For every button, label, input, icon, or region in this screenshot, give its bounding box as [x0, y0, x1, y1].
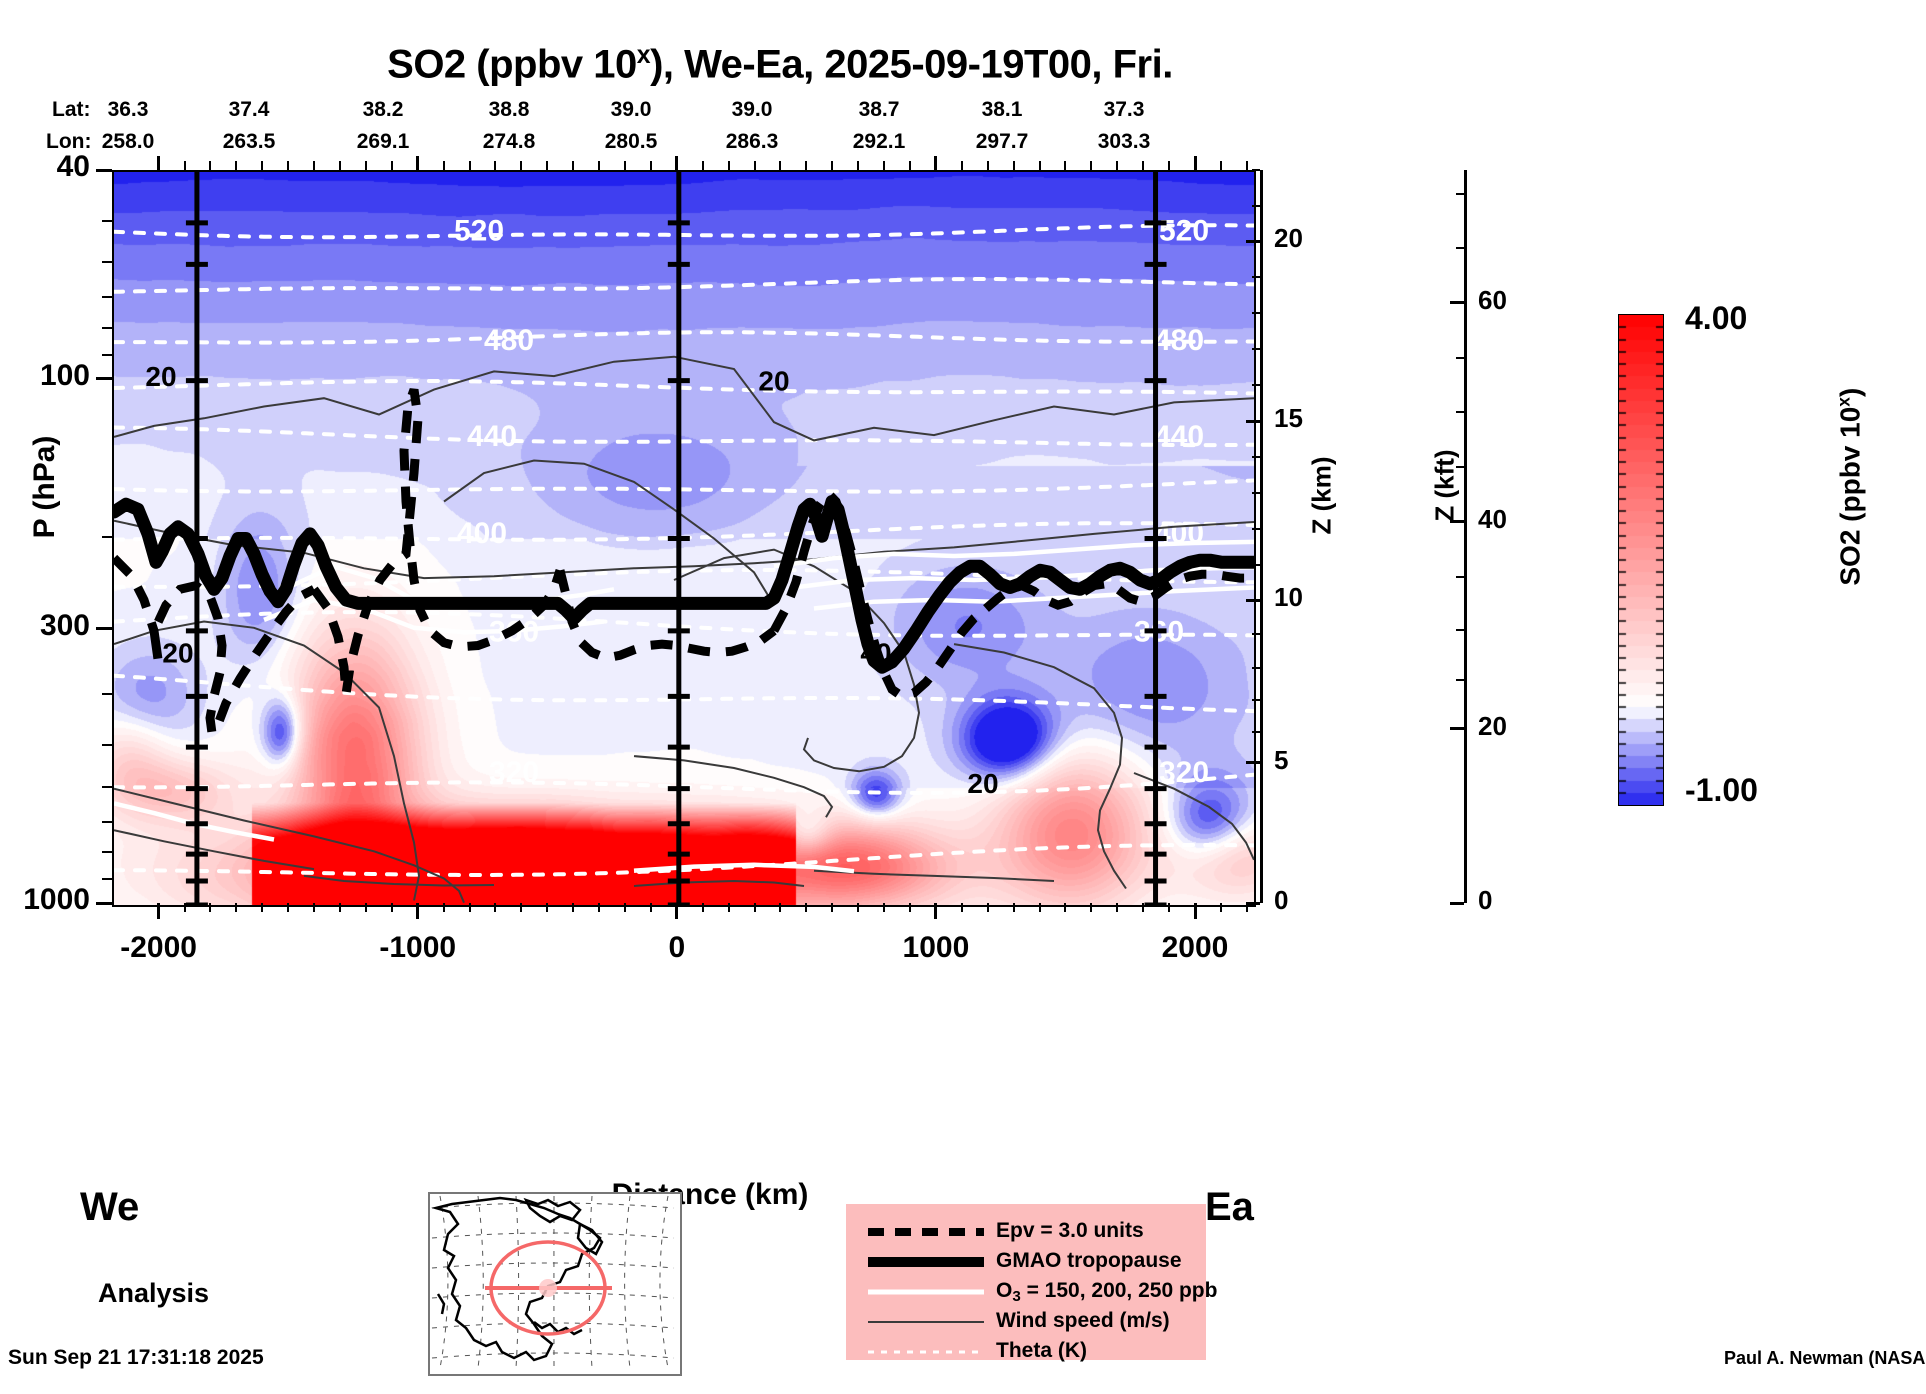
tick-mark: [909, 161, 911, 170]
tick-mark: [650, 161, 652, 170]
tick-mark: [1450, 520, 1464, 523]
theta-contour-label: 320: [489, 756, 539, 789]
theta-contour-label: 440: [467, 420, 517, 453]
y-tick-label: 300: [0, 609, 90, 643]
tick-mark: [572, 161, 574, 170]
tick-mark: [235, 161, 237, 170]
tick-mark: [934, 156, 937, 170]
inset-location-map[interactable]: [428, 1192, 682, 1376]
tick-mark: [675, 903, 678, 919]
tick-mark: [572, 903, 574, 912]
tick-mark: [1464, 170, 1467, 903]
inset-map-svg: [430, 1194, 676, 1370]
graticule-meridian: [625, 1196, 630, 1368]
lat-value: 36.3: [83, 98, 173, 122]
tick-mark: [102, 296, 112, 298]
legend-item-label: Wind speed (m/s): [996, 1309, 1170, 1333]
tick-mark: [1456, 629, 1464, 631]
lon-value: 263.5: [204, 130, 294, 154]
graticule-meridian: [589, 1196, 592, 1368]
x-tick-label: -1000: [348, 931, 488, 965]
tick-mark: [1456, 576, 1464, 578]
tick-mark: [650, 903, 652, 912]
legend-key-solid-thin-black: [866, 1306, 986, 1337]
tick-mark: [754, 161, 756, 170]
legend-item: GMAO tropopause: [846, 1246, 1206, 1277]
tick-mark: [287, 903, 289, 912]
z-kft-tick-label: 0: [1478, 885, 1548, 916]
colorbar: [1618, 314, 1664, 806]
lat-value: 38.7: [834, 98, 924, 122]
legend-item: Theta (K): [846, 1336, 1206, 1367]
tick-mark: [754, 903, 756, 912]
tick-mark: [1090, 903, 1092, 912]
tick-mark: [1039, 161, 1041, 170]
wind-speed-label: 20: [162, 638, 193, 669]
z-kft-tick-label: 40: [1478, 504, 1548, 535]
tick-mark: [987, 903, 989, 912]
wind-speed-contour: [114, 789, 464, 903]
tick-mark: [1252, 348, 1260, 350]
theta-contour-label: 520: [454, 215, 504, 248]
tick-mark: [598, 903, 600, 912]
theta-contour: [114, 279, 1254, 292]
legend-item-label: Theta (K): [996, 1339, 1087, 1363]
tick-mark: [96, 627, 112, 630]
tick-mark: [546, 161, 548, 170]
wind-speed-contour: [444, 461, 674, 510]
tick-mark: [365, 161, 367, 170]
tick-mark: [235, 903, 237, 912]
colorbar-label-sup: x: [1833, 397, 1853, 407]
z-kft-tick-label: 20: [1478, 711, 1548, 742]
tick-mark: [1246, 420, 1260, 423]
tick-mark: [805, 161, 807, 170]
theta-contour: [114, 332, 1254, 342]
theta-contour-label: 400: [457, 517, 507, 550]
legend-box: Epv = 3.0 unitsGMAO tropopauseO3 = 150, …: [846, 1204, 1206, 1360]
tick-mark: [1456, 193, 1464, 195]
tick-mark: [1194, 156, 1197, 170]
tick-mark: [1450, 902, 1464, 905]
tick-mark: [443, 903, 445, 912]
z-kft-axis-label: Z (kft): [1430, 396, 1461, 576]
lon-header-row: Lon:258.0263.5269.1274.8280.5286.3292.12…: [0, 130, 1926, 160]
wind-speed-label: 20: [758, 366, 789, 397]
tick-mark: [102, 220, 112, 222]
tick-mark: [702, 903, 704, 912]
tick-mark: [157, 156, 160, 170]
tick-mark: [1064, 903, 1066, 912]
tick-mark: [96, 169, 112, 172]
author-credit: Paul A. Newman (NASA: [1724, 1348, 1925, 1369]
tick-mark: [1450, 301, 1464, 304]
tick-mark: [494, 161, 496, 170]
lat-header-row: Lat:36.337.438.238.839.039.038.738.137.3: [0, 98, 1926, 128]
tick-mark: [1168, 161, 1170, 170]
tick-mark: [1252, 667, 1260, 669]
tick-mark: [102, 261, 112, 263]
tick-mark: [624, 903, 626, 912]
tick-mark: [102, 878, 112, 880]
graticule-parallel: [432, 1233, 674, 1238]
lat-value: 37.3: [1079, 98, 1169, 122]
cross-section-plot[interactable]: 5205204804804404404004003603603203202020…: [112, 170, 1256, 907]
tick-mark: [1246, 599, 1260, 602]
wind-speed-contour: [304, 876, 494, 886]
z-km-tick-label: 10: [1274, 582, 1344, 613]
tick-mark: [1252, 312, 1260, 314]
x-tick-label: 0: [607, 931, 747, 965]
tick-mark: [1064, 161, 1066, 170]
title-text-after: ), We-Ea, 2025-09-19T00, Fri.: [650, 42, 1173, 86]
tick-mark: [313, 161, 315, 170]
tick-mark: [520, 903, 522, 912]
lat-value: 38.8: [464, 98, 554, 122]
theta-contour-label: 480: [484, 324, 534, 357]
tick-mark: [102, 786, 112, 788]
theta-contour: [114, 845, 1254, 875]
graticule-meridian: [440, 1196, 448, 1368]
tick-mark: [1013, 903, 1015, 912]
tick-mark: [184, 161, 186, 170]
lat-value: 38.2: [338, 98, 428, 122]
tick-mark: [1220, 161, 1222, 170]
lon-value: 286.3: [707, 130, 797, 154]
lat-value: 37.4: [204, 98, 294, 122]
z-kft-tick-label: 60: [1478, 285, 1548, 316]
tick-mark: [857, 161, 859, 170]
tick-mark: [961, 161, 963, 170]
tick-mark: [1252, 205, 1260, 207]
lon-value: 303.3: [1079, 130, 1169, 154]
wind-speed-contour: [634, 881, 804, 886]
tick-mark: [1456, 466, 1464, 468]
tick-mark: [1252, 633, 1260, 635]
tick-mark: [209, 903, 211, 912]
tick-mark: [261, 161, 263, 170]
lat-value: 39.0: [586, 98, 676, 122]
graticule-parallel: [432, 1353, 674, 1358]
contour-overlay: 5205204804804404404004003603603203202020…: [114, 172, 1254, 905]
tick-mark: [1252, 276, 1260, 278]
colorbar-label-before: SO2 (ppbv 10: [1835, 407, 1866, 586]
theta-contour-label: 440: [1154, 420, 1204, 453]
lon-value: 258.0: [83, 130, 173, 154]
graticule-parallel: [432, 1263, 674, 1268]
tick-mark: [339, 903, 341, 912]
tick-mark: [728, 903, 730, 912]
tick-mark: [779, 161, 781, 170]
tick-mark: [365, 903, 367, 912]
tick-mark: [261, 903, 263, 912]
tick-mark: [1142, 161, 1144, 170]
legend-key-dotted-white: [866, 1336, 986, 1367]
lon-value: 269.1: [338, 130, 428, 154]
tick-mark: [546, 903, 548, 912]
theta-contour-label: 480: [1154, 324, 1204, 357]
tick-mark: [102, 821, 112, 823]
tick-mark: [157, 903, 160, 919]
transect-center-marker: [539, 1279, 557, 1297]
z-km-tick-label: 5: [1274, 745, 1344, 776]
tick-mark: [934, 903, 937, 919]
tick-mark: [1142, 903, 1144, 912]
x-tick-label: 1000: [866, 931, 1006, 965]
tick-mark: [831, 903, 833, 912]
z-km-tick-label: 0: [1274, 885, 1344, 916]
graticule-meridian: [516, 1196, 519, 1368]
legend-item-label: GMAO tropopause: [996, 1249, 1182, 1273]
tick-mark: [1220, 903, 1222, 912]
tick-mark: [469, 903, 471, 912]
theta-contour-label: 320: [1159, 756, 1209, 789]
tick-mark: [1252, 492, 1260, 494]
tick-mark: [313, 903, 315, 912]
theta-contour: [114, 676, 1254, 711]
tick-mark: [779, 903, 781, 912]
tick-mark: [102, 536, 112, 538]
tick-mark: [1246, 161, 1248, 170]
y-tick-label: 100: [0, 359, 90, 393]
lon-value: 274.8: [464, 130, 554, 154]
legend-key-solid-thick-black: [866, 1246, 986, 1277]
lon-value: 292.1: [834, 130, 924, 154]
tick-mark: [1456, 247, 1464, 249]
legend-item: Wind speed (m/s): [846, 1306, 1206, 1337]
tick-mark: [339, 161, 341, 170]
tick-mark: [391, 903, 393, 912]
tick-mark: [102, 354, 112, 356]
analysis-label: Analysis: [98, 1278, 209, 1309]
tick-mark: [883, 903, 885, 912]
lon-value: 297.7: [957, 130, 1047, 154]
tick-mark: [416, 903, 419, 919]
east-endpoint-label: Ea: [1205, 1185, 1254, 1230]
wind-speed-label: 20: [967, 768, 998, 799]
tick-mark: [102, 327, 112, 329]
tick-mark: [1456, 679, 1464, 681]
graticule-meridian: [660, 1196, 668, 1368]
tick-mark: [961, 903, 963, 912]
tick-mark: [987, 161, 989, 170]
tick-mark: [883, 161, 885, 170]
tick-mark: [391, 161, 393, 170]
tick-mark: [831, 161, 833, 170]
tick-mark: [443, 161, 445, 170]
epv-contour: [560, 570, 774, 658]
tick-mark: [909, 903, 911, 912]
tick-mark: [1116, 903, 1118, 912]
wind-speed-contour: [114, 830, 314, 869]
tick-mark: [624, 161, 626, 170]
tick-mark: [702, 161, 704, 170]
wind-speed-contour: [114, 622, 419, 901]
tick-mark: [520, 161, 522, 170]
tick-mark: [287, 161, 289, 170]
colorbar-label: SO2 (ppbv 10x): [1833, 337, 1866, 637]
legend-item: Epv = 3.0 units: [846, 1216, 1206, 1247]
tick-mark: [1456, 411, 1464, 413]
tick-mark: [1252, 384, 1260, 386]
tick-mark: [1252, 456, 1260, 458]
theta-contour: [114, 225, 1254, 237]
tick-mark: [1194, 903, 1197, 919]
tick-mark: [1252, 528, 1260, 530]
wind-speed-contour: [114, 357, 1254, 441]
tick-mark: [728, 161, 730, 170]
tick-mark: [1252, 169, 1260, 171]
west-endpoint-label: We: [80, 1185, 139, 1230]
x-tick-label: 2000: [1125, 931, 1265, 965]
tick-mark: [598, 161, 600, 170]
gmao-tropopause: [114, 502, 1254, 668]
coastline: [436, 1198, 600, 1360]
colorbar-min-label: -1.00: [1685, 772, 1758, 809]
z-km-tick-label: 15: [1274, 403, 1344, 434]
generation-timestamp: Sun Sep 21 17:31:18 2025: [8, 1346, 264, 1370]
tick-mark: [184, 903, 186, 912]
tick-mark: [675, 156, 678, 170]
legend-item-label: O3 = 150, 200, 250 ppb: [996, 1279, 1217, 1303]
y-tick-label: 40: [0, 150, 90, 184]
theta-contour-label: 520: [1159, 215, 1209, 248]
wind-speed-label: 20: [145, 361, 176, 392]
tick-mark: [1168, 903, 1170, 912]
tick-mark: [416, 156, 419, 170]
tick-mark: [209, 161, 211, 170]
tick-mark: [1246, 240, 1260, 243]
tick-mark: [805, 903, 807, 912]
tick-mark: [1246, 902, 1260, 905]
y-tick-label: 1000: [0, 883, 90, 917]
tick-mark: [1252, 731, 1260, 733]
z-km-tick-label: 20: [1274, 223, 1344, 254]
tick-mark: [1260, 170, 1263, 903]
tick-mark: [1090, 161, 1092, 170]
tick-mark: [1252, 699, 1260, 701]
tick-mark: [102, 744, 112, 746]
tick-mark: [494, 903, 496, 912]
lon-value: 280.5: [586, 130, 676, 154]
legend-item: O3 = 150, 200, 250 ppb: [846, 1276, 1206, 1307]
tick-mark: [469, 161, 471, 170]
tick-mark: [102, 851, 112, 853]
tick-mark: [96, 377, 112, 380]
y-axis-label: P (hPa): [28, 387, 62, 587]
theta-contour: [114, 428, 1254, 446]
x-tick-label: -2000: [89, 931, 229, 965]
legend-key-dashed-thick-black: [866, 1216, 986, 1247]
tick-mark: [1450, 727, 1464, 730]
colorbar-label-after: ): [1835, 388, 1866, 397]
tick-mark: [857, 903, 859, 912]
tick-mark: [1039, 903, 1041, 912]
tick-mark: [1252, 564, 1260, 566]
legend-item-label: Epv = 3.0 units: [996, 1219, 1144, 1243]
tick-mark: [1456, 357, 1464, 359]
legend-key-solid-white: [866, 1276, 986, 1307]
tick-mark: [96, 902, 112, 905]
title-text-before: SO2 (ppbv 10: [387, 42, 637, 86]
colorbar-max-label: 4.00: [1685, 300, 1747, 337]
page-title: SO2 (ppbv 10x), We-Ea, 2025-09-19T00, Fr…: [0, 42, 1560, 87]
lat-value: 39.0: [707, 98, 797, 122]
tick-mark: [1116, 161, 1118, 170]
lat-value: 38.1: [957, 98, 1047, 122]
tick-mark: [102, 693, 112, 695]
tick-mark: [1246, 761, 1260, 764]
title-superscript: x: [637, 42, 650, 69]
theta-contour: [114, 481, 1254, 492]
tick-mark: [1013, 161, 1015, 170]
